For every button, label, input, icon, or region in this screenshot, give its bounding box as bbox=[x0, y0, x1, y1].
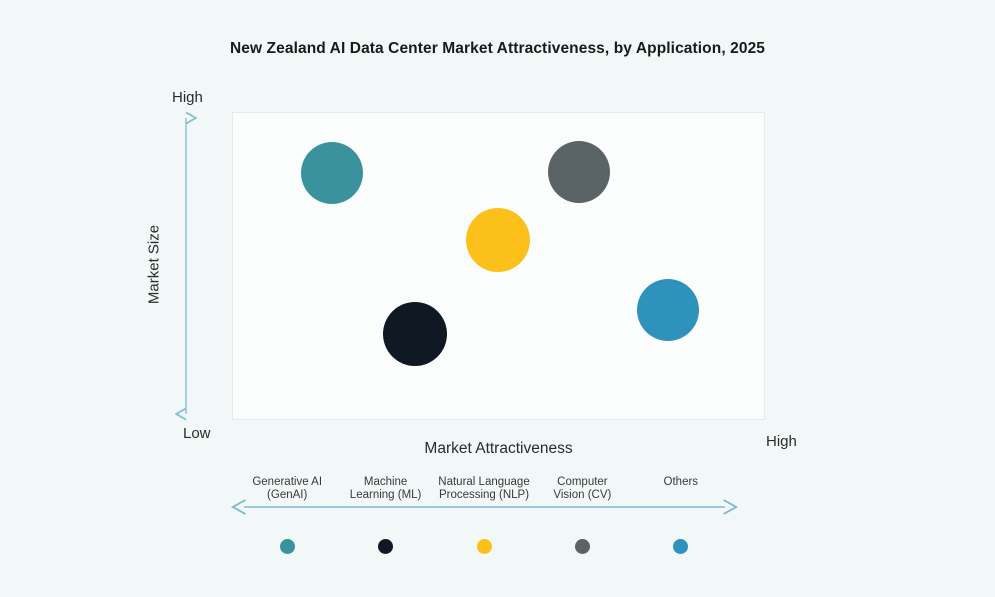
market-attractiveness-chart: New Zealand AI Data Center Market Attrac… bbox=[0, 0, 995, 597]
legend-dot bbox=[575, 539, 590, 554]
legend-dot bbox=[477, 539, 492, 554]
bubble-point bbox=[637, 279, 699, 341]
legend-label-line1: Others bbox=[621, 476, 741, 489]
legend-dot bbox=[673, 539, 688, 554]
bubble-point bbox=[466, 208, 530, 272]
y-axis-high-label: High bbox=[172, 89, 203, 106]
bubble-point bbox=[383, 302, 447, 366]
x-axis-title: Market Attractiveness bbox=[232, 440, 765, 458]
legend-dot bbox=[280, 539, 295, 554]
legend-dot bbox=[378, 539, 393, 554]
y-axis-title: Market Size bbox=[146, 105, 163, 425]
legend-label: Others bbox=[621, 476, 741, 489]
x-axis-high-label: High bbox=[766, 433, 797, 450]
legend-label-line2: Vision (CV) bbox=[522, 489, 642, 502]
bubble-point bbox=[301, 142, 363, 204]
y-axis-low-label: Low bbox=[183, 425, 211, 442]
chart-title: New Zealand AI Data Center Market Attrac… bbox=[0, 40, 995, 58]
bubble-point bbox=[548, 141, 610, 203]
